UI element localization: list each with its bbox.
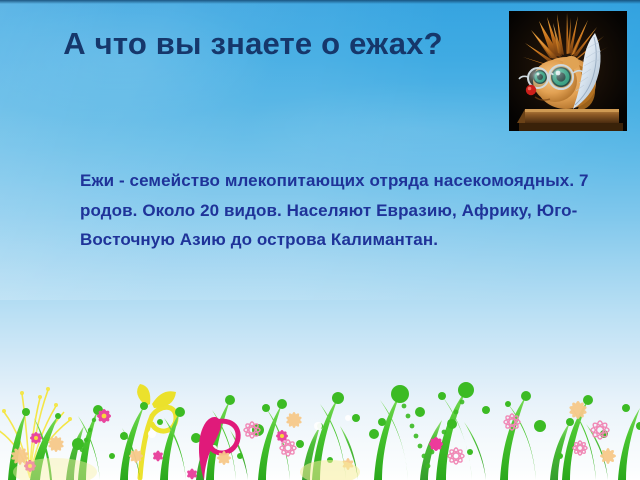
- green-dots: [22, 382, 640, 463]
- outlined-daisies: [244, 414, 609, 464]
- sprout-leaf-right: [152, 391, 176, 408]
- grass-blades: [8, 390, 640, 480]
- hedgehog-illustration: [509, 11, 627, 131]
- yellow-curl-sprout: [140, 407, 176, 478]
- desk-book: [517, 109, 623, 131]
- yellow-glow: [300, 460, 360, 480]
- slide-title: А что вы знаете о ежах?: [18, 22, 488, 65]
- dotted-stems: [80, 400, 465, 469]
- sprout-leaf-left: [137, 384, 150, 406]
- grass-flowers-decoration: [0, 360, 640, 480]
- hedgehog-picture: [509, 11, 627, 131]
- slide-body-text: Ежи - семейство млекопитающих отряда нас…: [80, 166, 620, 255]
- dandelion-tips: [2, 387, 72, 421]
- magenta-ribbon: [199, 417, 238, 480]
- slide-top-edge: [0, 0, 640, 4]
- cream-daisies: [11, 401, 616, 470]
- pink-flowers: [24, 409, 443, 480]
- hedgehog-nose: [526, 85, 536, 95]
- presentation-slide: А что вы знаете о ежах? Ежи - семейство …: [0, 0, 640, 480]
- yellow-dandelion: [0, 390, 70, 478]
- yellow-glow-left: [13, 458, 97, 480]
- white-dots: [148, 415, 351, 451]
